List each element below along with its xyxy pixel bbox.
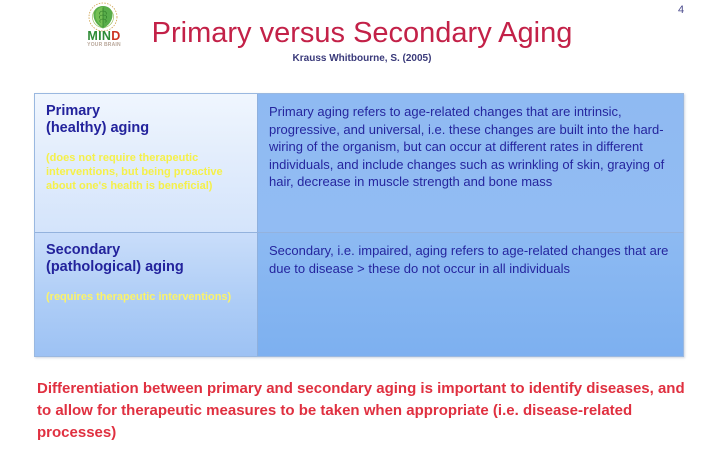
primary-label-heading: Primary (healthy) aging [46, 103, 246, 137]
brain-circle-icon [88, 2, 118, 32]
table-row: Secondary (pathological) aging (requires… [35, 232, 683, 356]
page-subtitle-citation: Krauss Whitbourne, S. (2005) [142, 53, 582, 64]
page-number: 4 [672, 4, 690, 16]
logo-tagline: YOUR BRAIN [78, 42, 130, 48]
footer-note: Differentiation between primary and seco… [37, 378, 687, 444]
table-cell-secondary-label: Secondary (pathological) aging (requires… [35, 232, 258, 356]
logo-wordmark-accent: D [111, 29, 120, 43]
secondary-label-line2: (pathological) aging [46, 259, 246, 276]
table-cell-primary-label: Primary (healthy) aging (does not requir… [35, 94, 258, 232]
logo-wordmark-main: MIN [87, 29, 111, 43]
primary-label-note: (does not require therapeutic interventi… [46, 151, 246, 193]
secondary-label-note: (requires therapeutic interventions) [46, 290, 246, 304]
table-cell-secondary-description: Secondary, i.e. impaired, aging refers t… [258, 232, 683, 356]
aging-comparison-table: Primary (healthy) aging (does not requir… [34, 93, 684, 357]
secondary-label-line1: Secondary [46, 242, 246, 259]
page-title: Primary versus Secondary Aging [142, 17, 582, 50]
logo-wordmark: MIND [78, 30, 130, 42]
primary-label-line2: (healthy) aging [46, 120, 246, 137]
secondary-label-heading: Secondary (pathological) aging [46, 242, 246, 276]
mind-your-brain-logo: MIND YOUR BRAIN [78, 2, 130, 50]
primary-label-line1: Primary [46, 103, 246, 120]
secondary-description-text: Secondary, i.e. impaired, aging refers t… [269, 242, 672, 277]
primary-description-text: Primary aging refers to age-related chan… [269, 103, 672, 191]
table-row: Primary (healthy) aging (does not requir… [35, 94, 683, 232]
table-cell-primary-description: Primary aging refers to age-related chan… [258, 94, 683, 232]
